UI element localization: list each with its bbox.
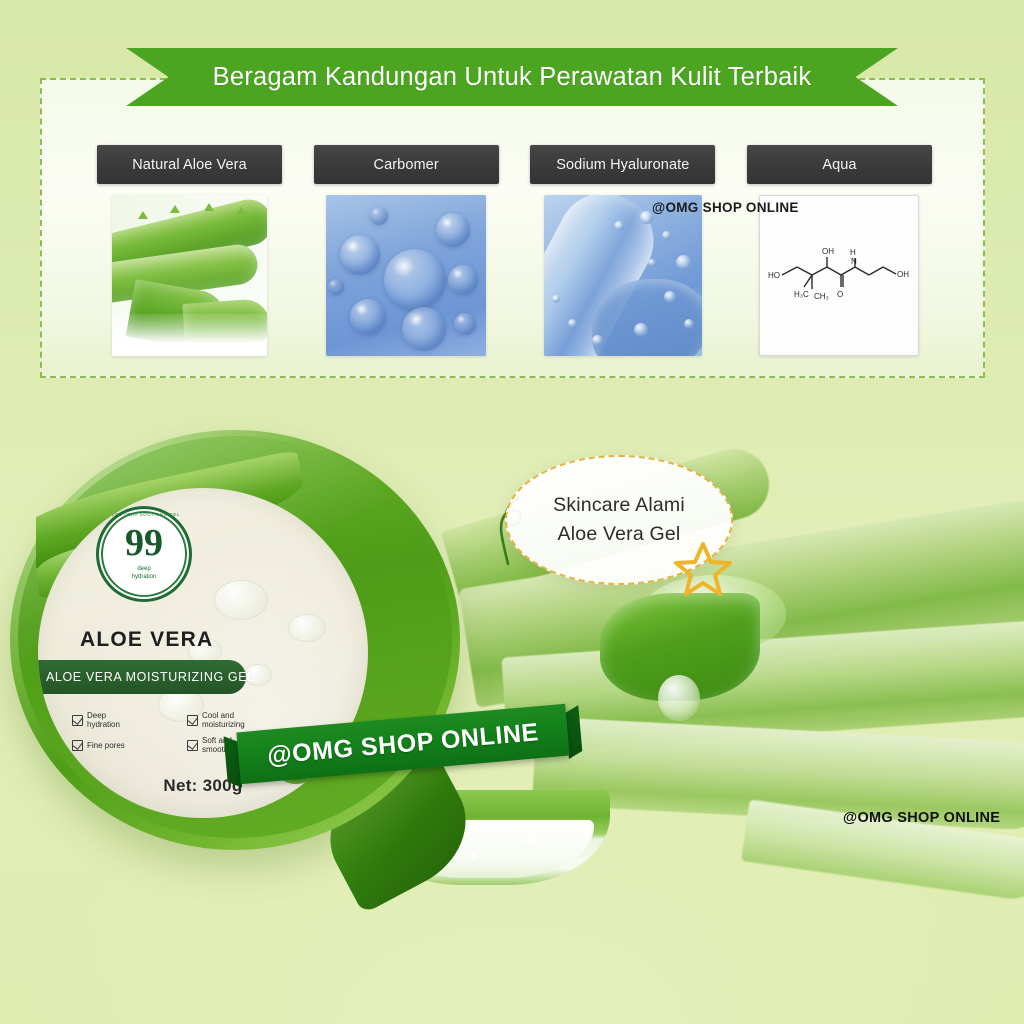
ribbon-text: @OMG SHOP ONLINE [266,718,540,771]
checkbox-icon [187,740,198,751]
star-icon [672,538,734,600]
product-jar[interactable]: ALOE VERA SOOTHING GEL 99 deep hydration… [10,430,460,850]
molecule-svg: HO OH H N OH H₃C CH₃ O [764,241,914,311]
headline-banner: Beragam Kandungan Untuk Perawatan Kulit … [126,48,898,106]
net-weight: Net: 300g [38,776,368,796]
ingredient-card[interactable]: Sodium Hyaluronate [530,145,715,365]
ingredient-card-list: Natural Aloe Vera Carbomer [97,145,932,365]
feature-item: Fine pores [72,737,187,754]
ingredient-label-text: Aqua [822,157,856,173]
product-subtitle: ALOE VERA MOISTURIZING GEL [46,670,255,684]
ingredient-label-text: Natural Aloe Vera [132,157,247,173]
checkbox-icon [187,715,198,726]
ingredient-label-bar: Sodium Hyaluronate [530,145,715,184]
svg-text:H₃C: H₃C [794,290,809,299]
feature-line: hydration [87,721,120,730]
99-percent-badge: ALOE VERA SOOTHING GEL 99 deep hydration [96,506,192,602]
svg-text:H: H [850,248,856,257]
product-title: ALOE VERA [80,628,213,652]
svg-text:O: O [837,290,843,299]
ingredient-label-text: Sodium Hyaluronate [556,157,689,173]
ingredient-label-bar: Aqua [747,145,932,184]
callout-line-2: Aloe Vera Gel [558,523,681,546]
aloe-leaves-photo [112,195,267,356]
feature-line: moisturizing [202,721,245,730]
callout-line-1: Skincare Alami [553,494,685,517]
ingredient-card[interactable]: Natural Aloe Vera [97,145,282,365]
panel-watermark: @OMG SHOP ONLINE [652,200,799,215]
ingredients-panel: Natural Aloe Vera Carbomer [40,78,985,378]
svg-text:HO: HO [768,271,780,280]
chemical-structure-diagram: HO OH H N OH H₃C CH₃ O [759,195,919,356]
blue-bubbles-photo [326,195,486,356]
ingredient-label-bar: Natural Aloe Vera [97,145,282,184]
hero-watermark: @OMG SHOP ONLINE [843,810,1000,826]
water-droplets-photo [544,195,702,356]
checkbox-icon [72,715,83,726]
badge-arc-text: ALOE VERA SOOTHING GEL [96,512,192,517]
product-subtitle-pill: ALOE VERA MOISTURIZING GEL [38,660,246,694]
ingredient-card[interactable]: Carbomer [314,145,499,365]
svg-text:N: N [851,257,857,266]
product-hero: ALOE VERA SOOTHING GEL 99 deep hydration… [0,390,1024,1024]
headline-text: Beragam Kandungan Untuk Perawatan Kulit … [213,63,812,92]
badge-number: 99 [96,524,192,562]
feature-item: Cool and moisturizing [187,712,302,729]
feature-line: Fine pores [87,742,125,751]
svg-text:OH: OH [822,247,834,256]
ingredient-label-bar: Carbomer [314,145,499,184]
ingredient-card[interactable]: Aqua [747,145,932,365]
ingredient-label-text: Carbomer [374,157,439,173]
checkbox-icon [72,740,83,751]
feature-item: Deep hydration [72,712,187,729]
badge-subtext: deep hydration [96,566,192,581]
svg-text:OH: OH [897,270,909,279]
svg-text:CH₃: CH₃ [814,292,829,301]
